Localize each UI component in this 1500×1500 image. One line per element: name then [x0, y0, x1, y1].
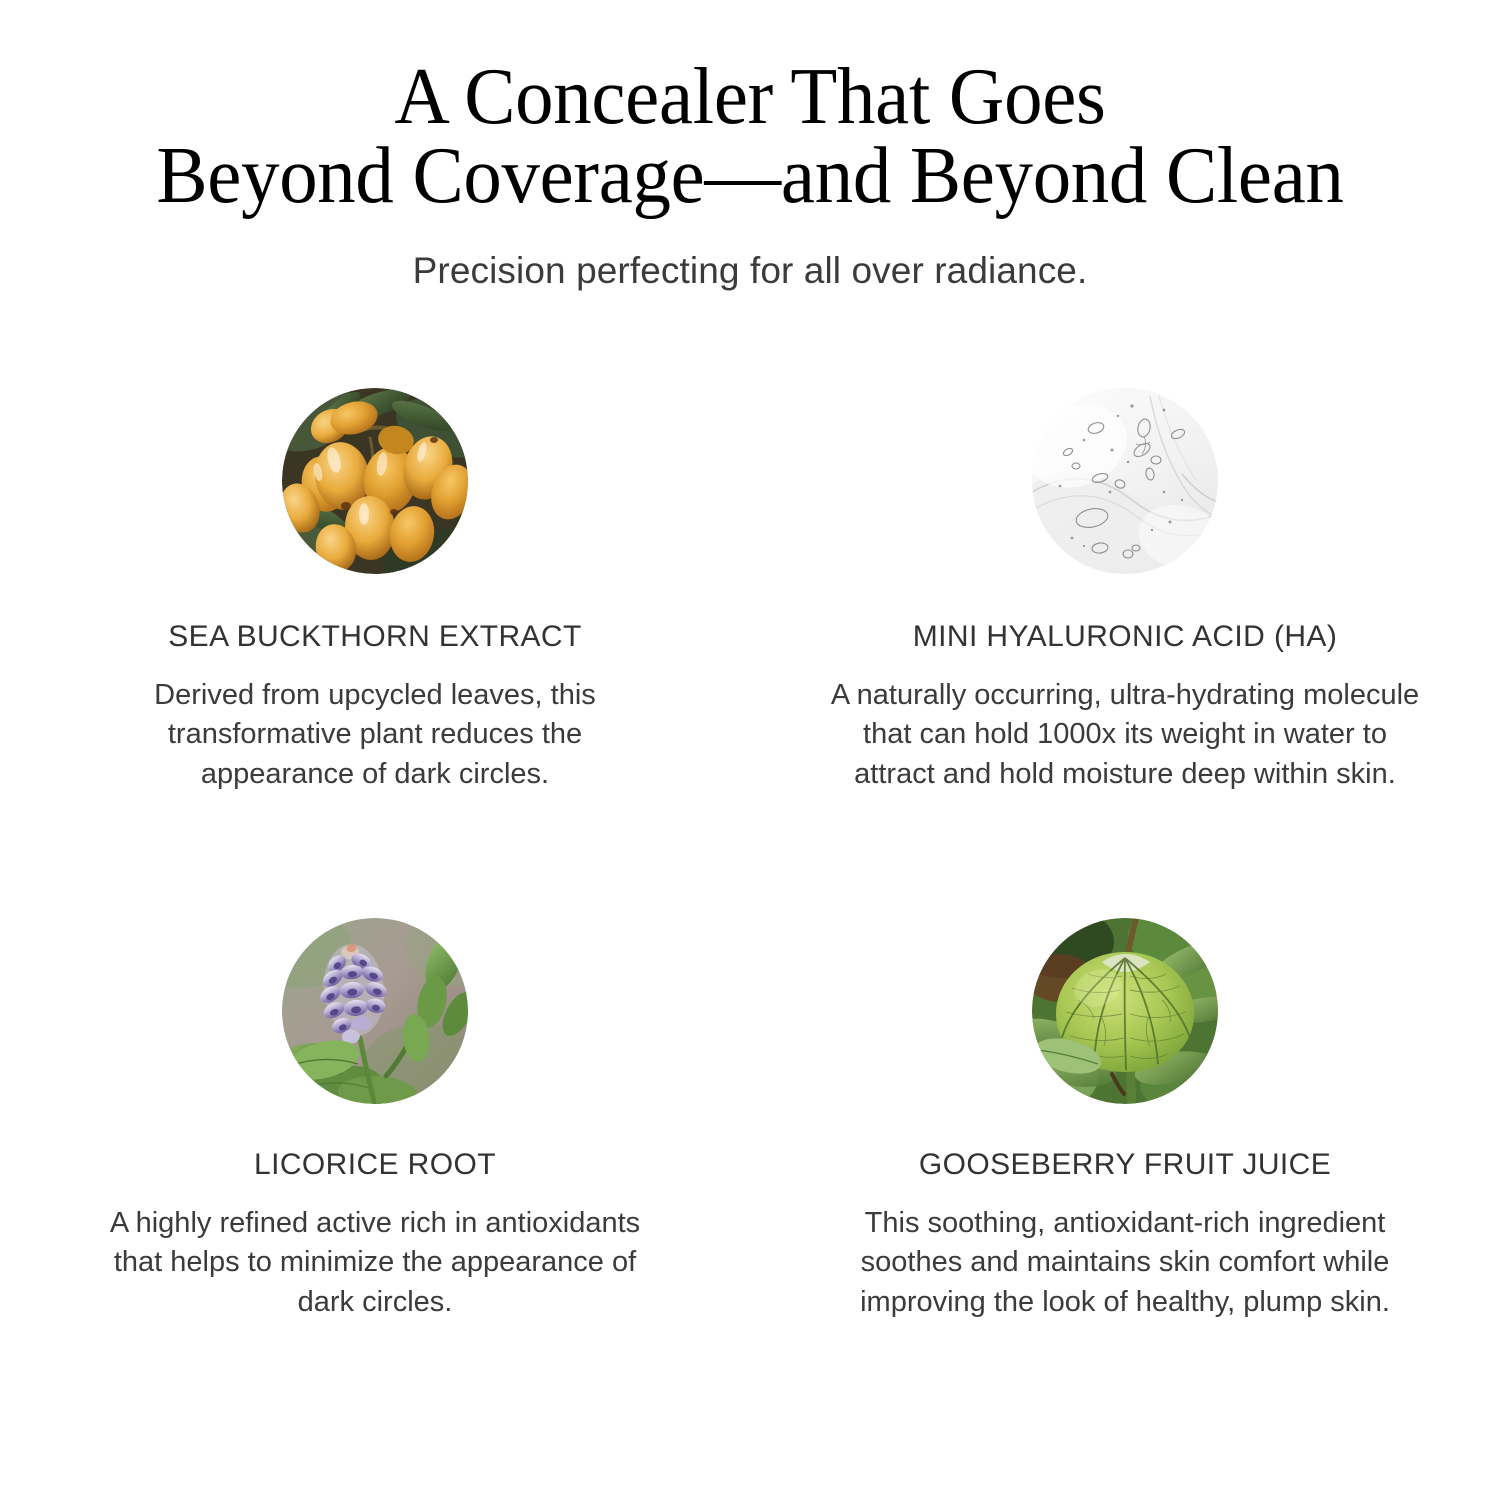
ingredient-grid: SEA BUCKTHORN EXTRACT Derived from upcyc… — [0, 388, 1500, 1448]
page-title-line-1: A Concealer That Goes — [68, 58, 1431, 137]
ingredient-card-sea-buckthorn: SEA BUCKTHORN EXTRACT Derived from upcyc… — [0, 388, 750, 918]
ingredient-benefits-page: A Concealer That Goes Beyond Coverage—an… — [0, 0, 1500, 1500]
page-subtitle: Precision perfecting for all over radian… — [0, 216, 1500, 292]
page-title-line-2: Beyond Coverage—and Beyond Clean — [68, 137, 1431, 216]
ingredient-card-gooseberry: GOOSEBERRY FRUIT JUICE This soothing, an… — [750, 918, 1500, 1448]
hyaluronic-acid-gel-texture-photo — [1032, 388, 1218, 574]
ingredient-description: A highly refined active rich in antioxid… — [95, 1182, 655, 1322]
licorice-root-flower-photo — [282, 918, 468, 1104]
ingredient-description: This soothing, antioxidant-rich ingredie… — [825, 1182, 1425, 1322]
page-header: A Concealer That Goes Beyond Coverage—an… — [0, 58, 1500, 292]
page-title: A Concealer That Goes Beyond Coverage—an… — [30, 58, 1470, 216]
ingredient-description: A naturally occurring, ultra-hydrating m… — [825, 654, 1425, 794]
ingredient-title: MINI HYALURONIC ACID (HA) — [913, 574, 1337, 654]
ingredient-title: SEA BUCKTHORN EXTRACT — [168, 574, 581, 654]
ingredient-card-licorice-root: LICORICE ROOT A highly refined active ri… — [0, 918, 750, 1448]
ingredient-title: LICORICE ROOT — [254, 1104, 496, 1182]
ingredient-description: Derived from upcycled leaves, this trans… — [95, 654, 655, 794]
ingredient-title: GOOSEBERRY FRUIT JUICE — [919, 1104, 1331, 1182]
gooseberry-fruit-husk-photo — [1032, 918, 1218, 1104]
sea-buckthorn-berries-photo — [282, 388, 468, 574]
ingredient-card-hyaluronic-acid: MINI HYALURONIC ACID (HA) A naturally oc… — [750, 388, 1500, 918]
